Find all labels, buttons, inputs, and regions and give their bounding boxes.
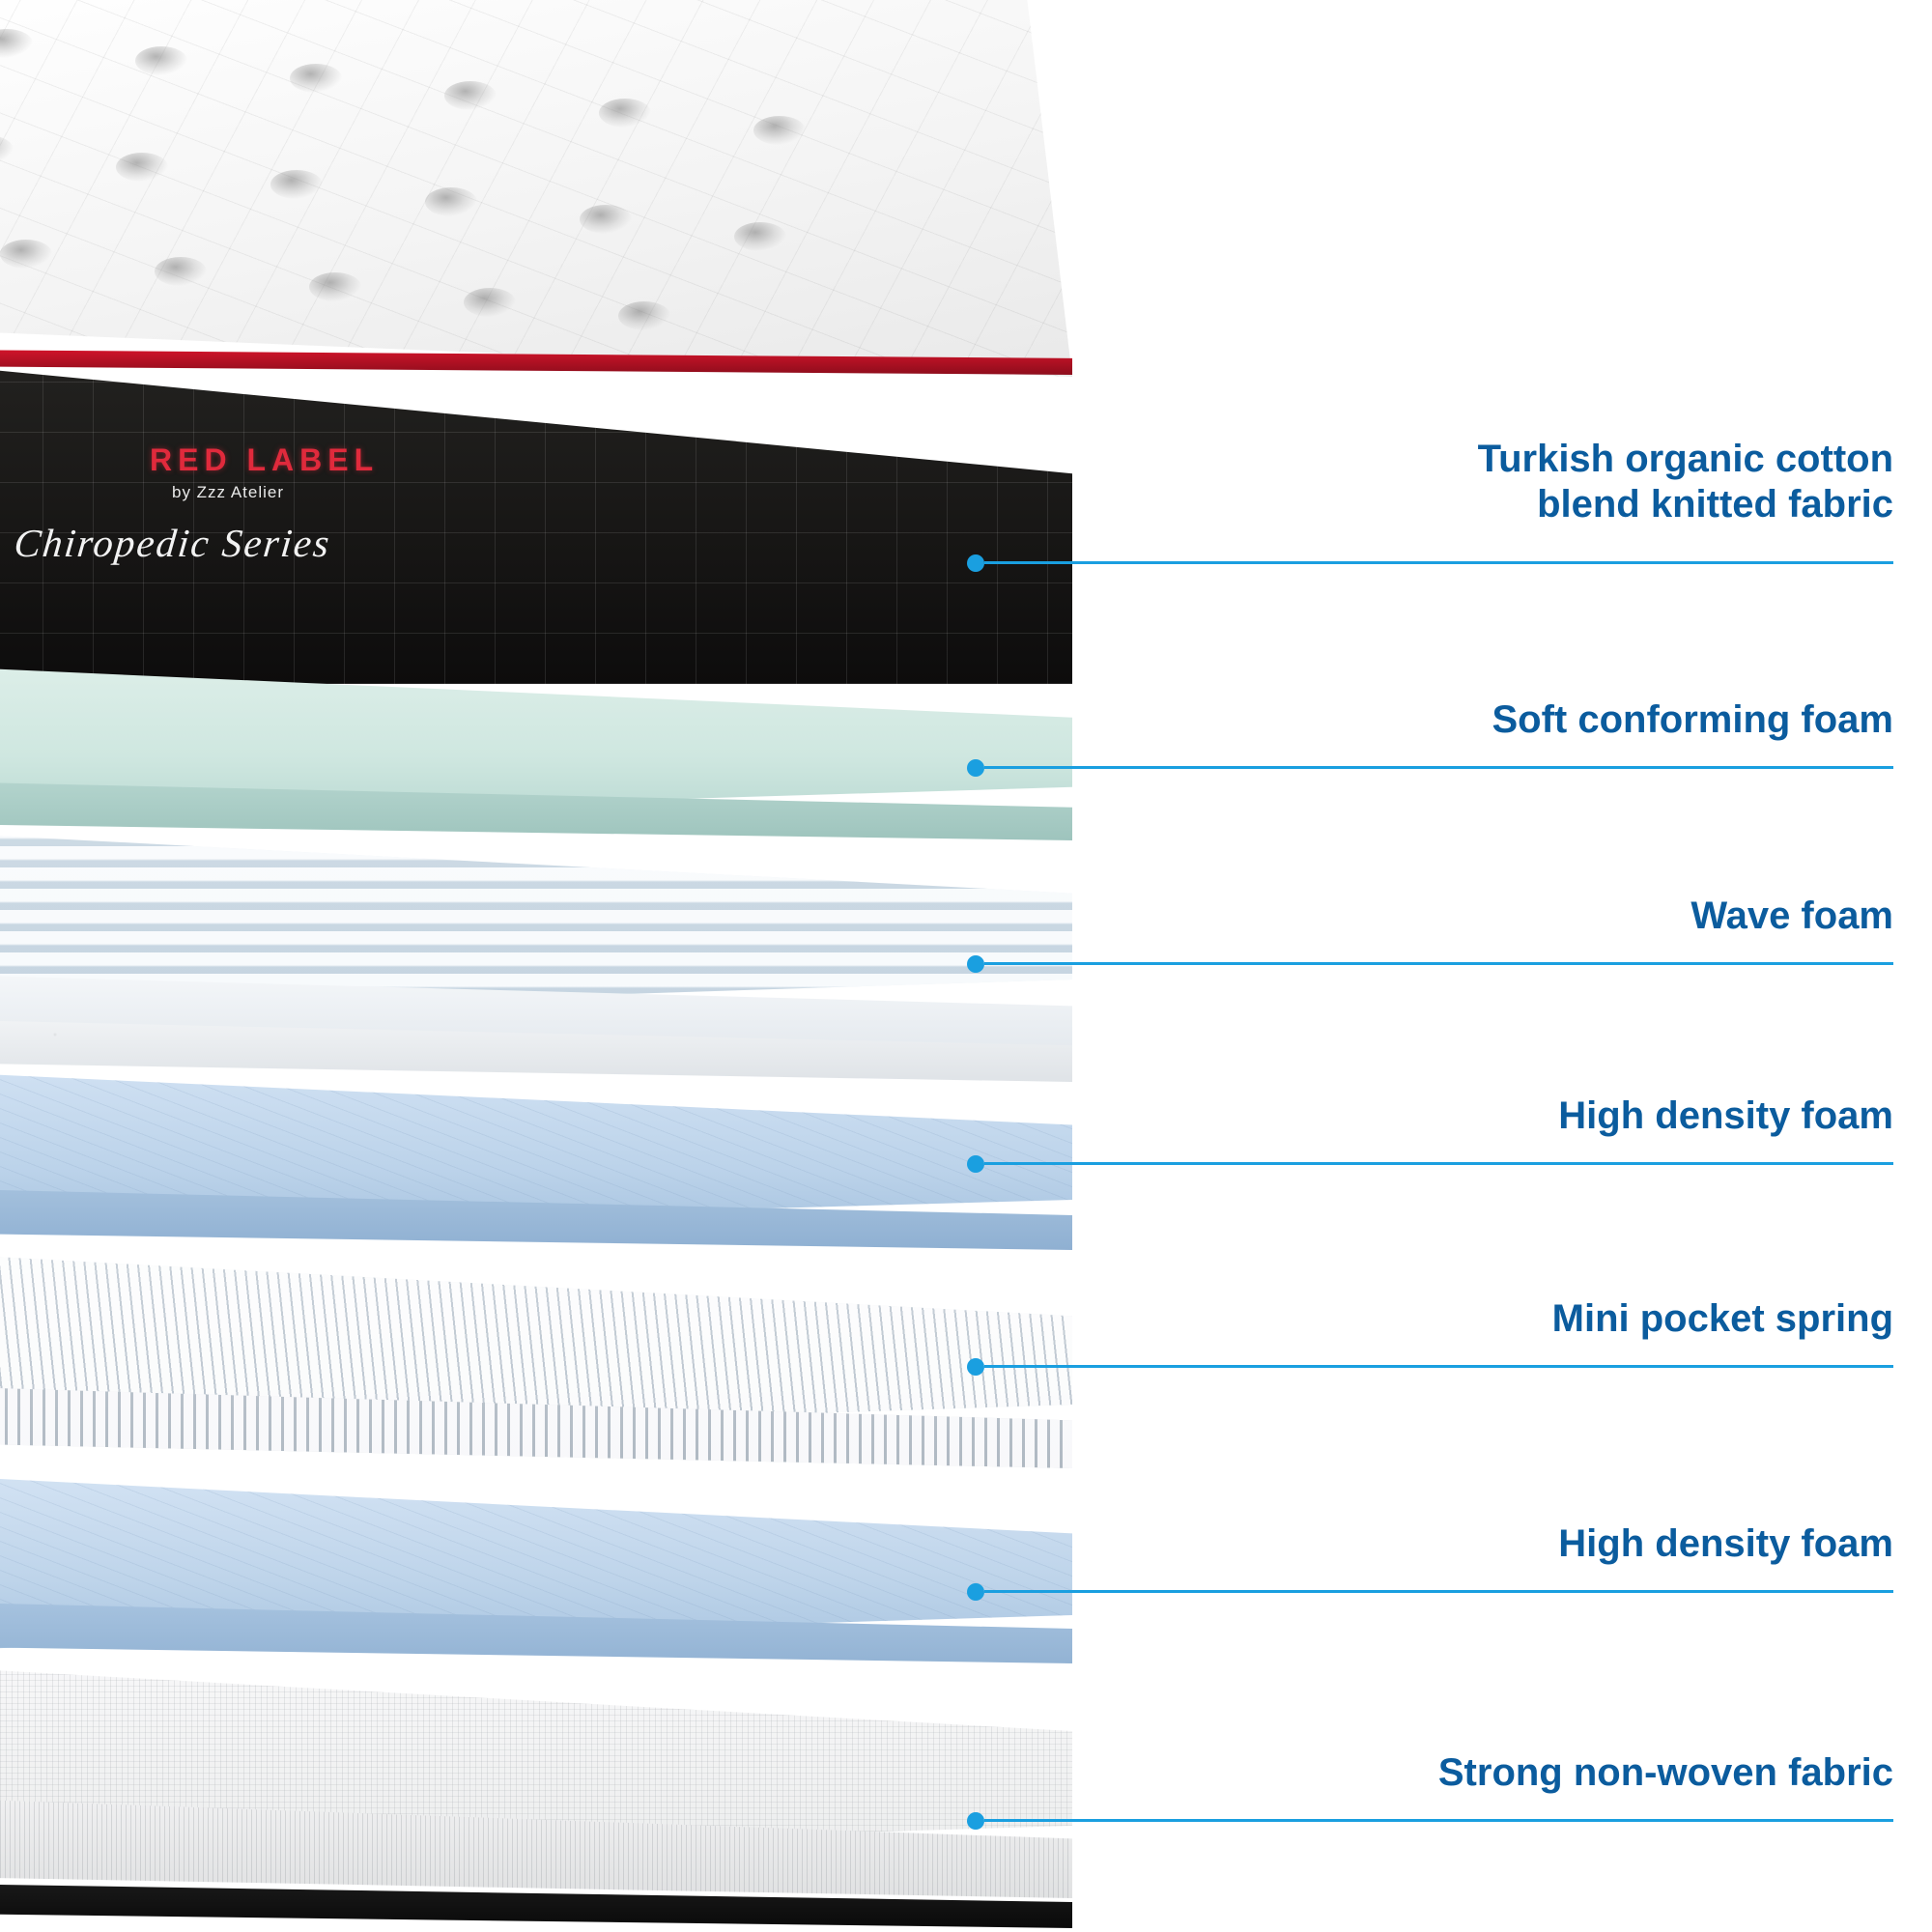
callout-dot-hd-foam-lower [967, 1583, 984, 1601]
quilt-tuft [0, 240, 52, 269]
callout-dot-hd-foam-upper [967, 1155, 984, 1173]
callout-line-hd-foam-lower [984, 1590, 1893, 1593]
quilt-tuft [734, 222, 786, 251]
quilt-tuft [290, 64, 342, 93]
callout-line-cover [984, 561, 1893, 564]
callout-label-non-woven: Strong non-woven fabric [927, 1750, 1893, 1796]
callout-dot-cover [967, 554, 984, 572]
quilt-tuft [580, 205, 632, 234]
callout-line-wave-foam [984, 962, 1893, 965]
quilt-tuft [309, 272, 361, 301]
callout-label-hd-foam-lower: High density foam [927, 1521, 1893, 1567]
quilt-tuft [116, 153, 168, 182]
mattress-side-panel: RED LABEL by Zzz Atelier Chiropedic Seri… [0, 365, 1072, 684]
brand-series-script: Chiropedic Series [12, 520, 332, 566]
brand-subline: by Zzz Atelier [172, 483, 284, 502]
callout-label-hd-foam-upper: High density foam [927, 1094, 1893, 1139]
callout-dot-pocket-spring [967, 1358, 984, 1376]
callout-label-pocket-spring: Mini pocket spring [927, 1296, 1893, 1342]
quilt-tuft [155, 257, 207, 286]
brand-name-red-label: RED LABEL [150, 442, 379, 478]
quilt-tuft [464, 288, 516, 317]
quilt-tuft [753, 116, 806, 145]
callout-line-non-woven [984, 1819, 1893, 1822]
quilt-tuft [599, 99, 651, 128]
callout-dot-soft-foam [967, 759, 984, 777]
callout-label-soft-foam: Soft conforming foam [927, 697, 1893, 743]
quilt-tuft [270, 170, 323, 199]
quilt-tuft [135, 46, 187, 75]
quilt-tuft [444, 81, 497, 110]
quilt-tuft [618, 301, 670, 330]
quilted-top-surface [0, 0, 1072, 377]
callout-dot-non-woven [967, 1812, 984, 1830]
callout-line-pocket-spring [984, 1365, 1893, 1368]
mattress-layer-diagram: RED LABEL by Zzz Atelier Chiropedic Seri… [0, 0, 1932, 1932]
quilt-tuft [425, 187, 477, 216]
callout-line-soft-foam [984, 766, 1893, 769]
callout-label-cover: Turkish organic cotton blend knitted fab… [927, 437, 1893, 527]
callout-label-wave-foam: Wave foam [927, 894, 1893, 939]
callout-line-hd-foam-upper [984, 1162, 1893, 1165]
callout-dot-wave-foam [967, 955, 984, 973]
